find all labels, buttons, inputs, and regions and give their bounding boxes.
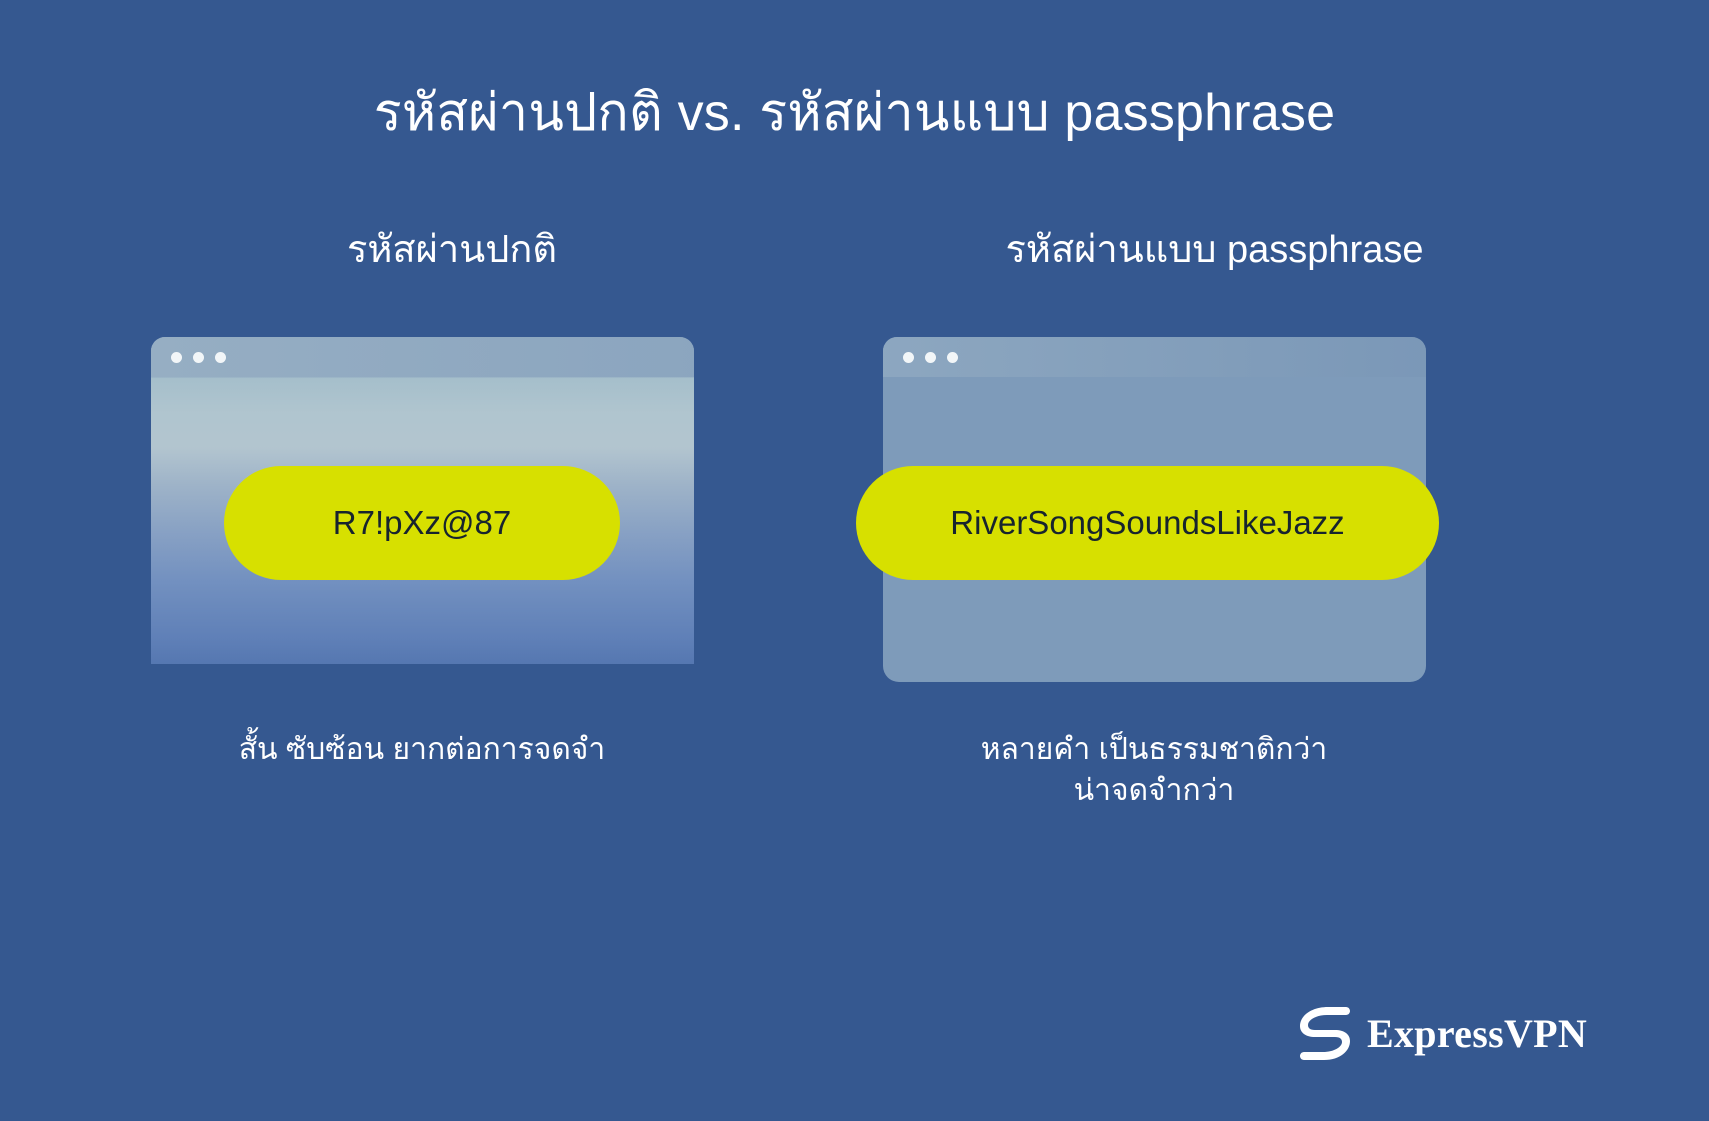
- window-dot-maximize-icon: [215, 352, 226, 363]
- window-dot-maximize-icon: [947, 352, 958, 363]
- expressvpn-logo-icon: [1297, 1004, 1353, 1062]
- infographic-canvas: รหัสผ่านปกติ vs. รหัสผ่านแบบ passphrase …: [0, 0, 1709, 1121]
- caption-passphrase-line-2: น่าจดจำกว่า: [842, 771, 1466, 812]
- caption-passphrase: หลายคำ เป็นธรรมชาติกว่า น่าจดจำกว่า: [842, 730, 1466, 811]
- caption-standard: สั้น ซับซ้อน ยากต่อการจดจำ: [122, 730, 722, 771]
- brand-logo: ExpressVPN: [1297, 1004, 1587, 1062]
- window-dot-minimize-icon: [925, 352, 936, 363]
- window-dot-close-icon: [171, 352, 182, 363]
- browser-card-passphrase: RiverSongSoundsLikeJazz: [883, 337, 1426, 682]
- column-heading-standard: รหัสผ่านปกติ: [122, 228, 782, 274]
- window-dot-minimize-icon: [193, 352, 204, 363]
- caption-standard-line-1: สั้น ซับซ้อน ยากต่อการจดจำ: [122, 730, 722, 771]
- browser-title-bar-standard: [151, 337, 694, 377]
- page-title: รหัสผ่านปกติ vs. รหัสผ่านแบบ passphrase: [0, 84, 1709, 144]
- browser-card-standard: R7!pXz@87: [151, 337, 694, 664]
- browser-title-bar-passphrase: [883, 337, 1426, 377]
- window-dot-close-icon: [903, 352, 914, 363]
- column-standard-password: รหัสผ่านปกติ: [122, 228, 782, 274]
- column-passphrase: รหัสผ่านแบบ passphrase: [842, 228, 1587, 274]
- password-pill-standard[interactable]: R7!pXz@87: [224, 466, 620, 580]
- caption-passphrase-line-1: หลายคำ เป็นธรรมชาติกว่า: [842, 730, 1466, 771]
- password-pill-passphrase[interactable]: RiverSongSoundsLikeJazz: [856, 466, 1439, 580]
- brand-wordmark: ExpressVPN: [1367, 1010, 1587, 1057]
- column-heading-passphrase: รหัสผ่านแบบ passphrase: [842, 228, 1587, 274]
